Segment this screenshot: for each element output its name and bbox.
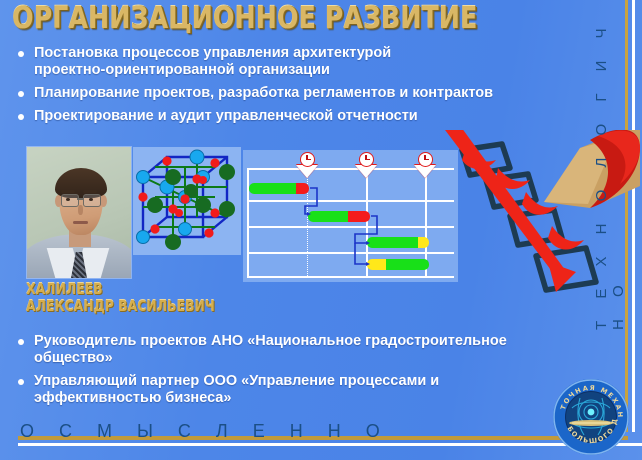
photo-mouth — [73, 221, 88, 224]
top-bullet-list: Постановка процессов управления архитект… — [10, 45, 585, 131]
gantt-chart-illustration — [243, 150, 458, 282]
photo-ear-right — [100, 195, 107, 207]
crystal-lattice-illustration — [133, 147, 241, 255]
gantt-milestone — [296, 152, 318, 180]
photo-eye-right — [89, 198, 93, 201]
photo-eyeglass-left — [61, 194, 79, 207]
photo-brow-right — [83, 190, 97, 193]
clock-icon — [418, 152, 433, 167]
gantt-milestone — [355, 152, 377, 180]
person-name: ХАЛИЛЕЕВ АЛЕКСАНДР ВАСИЛЬЕВИЧ — [26, 281, 231, 315]
presentation-slide: ОРГАНИЗАЦИОННОЕ РАЗВИТИЕ Постановка проц… — [0, 0, 642, 460]
bottom-white-rule — [18, 443, 642, 446]
clock-icon — [300, 152, 315, 167]
photo-nose — [78, 205, 83, 215]
bullet-item: Управляющий партнер ООО «Управление проц… — [10, 373, 580, 407]
bullet-item: Постановка процессов управления архитект… — [10, 45, 585, 79]
bottom-bullet-list: Руководитель проектов АНО «Национальное … — [10, 333, 580, 413]
bullet-item: Руководитель проектов АНО «Национальное … — [10, 333, 580, 367]
person-given-name: АЛЕКСАНДР ВАСИЛЬЕВИЧ — [26, 298, 215, 315]
arrowhead — [366, 241, 370, 245]
photo-eyeglass-bridge — [77, 198, 83, 200]
bullet-item: Проектирование и аудит управленческой от… — [10, 108, 585, 125]
arrowhead — [307, 212, 311, 216]
footer-word-bottom: О С М Ы С Л Е Н Н О — [20, 421, 390, 442]
clock-icon — [359, 152, 374, 167]
bullet-item: Планирование проектов, разработка реглам… — [10, 85, 585, 102]
footer-word-side: Т Е Х Н О Л О Г И Ч Н О — [593, 10, 617, 330]
portrait-photo — [27, 147, 131, 278]
pencil-icon — [544, 130, 640, 208]
photo-eye-left — [66, 198, 70, 201]
photo-brow-left — [61, 190, 75, 193]
logo-svg: ТОЧНАЯ МЕХАНИКА БОЛЬШОГО ДЕЛА — [552, 378, 630, 456]
gantt-milestone — [414, 152, 436, 180]
person-surname: ХАЛИЛЕЕВ — [26, 281, 215, 298]
slide-title: ОРГАНИЗАЦИОННОЕ РАЗВИТИЕ — [12, 4, 477, 34]
lattice-svg — [133, 147, 241, 255]
company-logo: ТОЧНАЯ МЕХАНИКА БОЛЬШОГО ДЕЛА — [552, 378, 630, 456]
arrowhead — [366, 262, 370, 266]
